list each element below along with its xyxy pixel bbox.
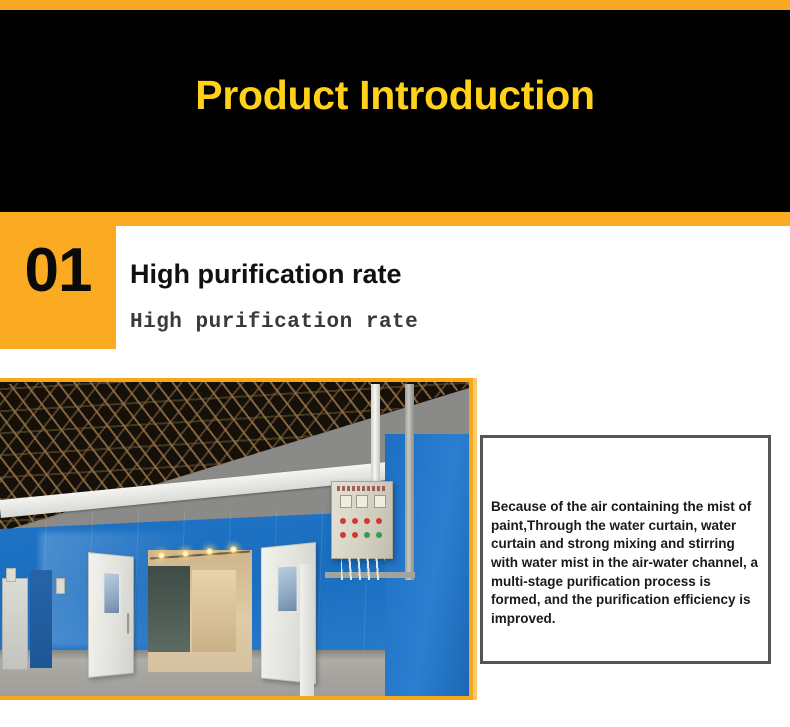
hero-banner: Product Introduction: [0, 10, 790, 212]
cabinet-button-green: [364, 532, 370, 538]
cabinet-button-red: [352, 532, 358, 538]
interior-dark-room: [148, 566, 190, 652]
blue-return-wall: [385, 434, 473, 696]
door-handle: [127, 613, 129, 634]
booth-door-left: [88, 552, 134, 678]
ceiling-lamp-icon: [158, 552, 165, 559]
description-box: Because of the air containing the mist o…: [480, 435, 771, 664]
cabinet-button-red: [340, 532, 346, 538]
door-window: [277, 564, 298, 613]
control-cabinet: [331, 481, 393, 559]
cabinet-button-red: [352, 518, 358, 524]
ceiling-lamp-icon: [230, 546, 237, 553]
far-door: [2, 578, 28, 670]
support-post: [405, 384, 414, 580]
cabinet-button-green: [376, 532, 382, 538]
interior-panel: [192, 570, 236, 652]
door-jamb: [300, 564, 314, 696]
wall-box-icon: [56, 578, 65, 594]
section-number: 01: [0, 240, 116, 302]
description-text: Because of the air containing the mist o…: [491, 498, 761, 628]
door-window: [103, 571, 121, 615]
cabinet-gauge: [374, 495, 386, 508]
cabinet-cables: [341, 558, 385, 580]
top-accent-bar: [0, 0, 790, 10]
ceiling-lamp-icon: [206, 548, 213, 555]
cabinet-button-red: [364, 518, 370, 524]
booth-doorway-interior: [148, 550, 252, 672]
section-heading-panel: High purification rate High purification…: [116, 226, 790, 349]
white-pipe: [371, 384, 380, 484]
cabinet-gauge: [340, 495, 352, 508]
wall-box-icon: [6, 568, 16, 582]
cabinet-label: [337, 486, 387, 491]
photo-right-accent: [473, 378, 477, 700]
far-blue-panel: [30, 570, 52, 668]
page-title: Product Introduction: [0, 72, 790, 119]
cabinet-gauge: [356, 495, 368, 508]
product-photo: [0, 378, 473, 700]
cabinet-button-red: [376, 518, 382, 524]
section-subheading: High purification rate: [130, 311, 418, 334]
section-heading: High purification rate: [130, 259, 402, 290]
section-number-tile: 01: [0, 212, 116, 349]
ceiling-lamp-icon: [182, 550, 189, 557]
section-orange-band: [0, 212, 790, 226]
cabinet-button-red: [340, 518, 346, 524]
